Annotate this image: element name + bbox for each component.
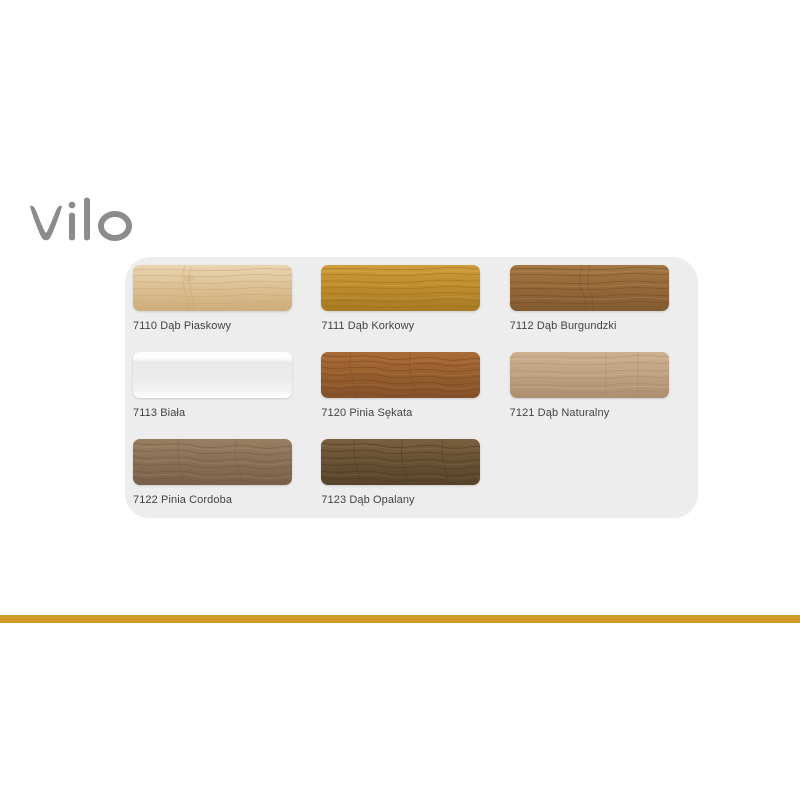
swatch-chip-7122[interactable] <box>133 439 292 485</box>
swatch-label-7121: 7121 Dąb Naturalny <box>510 407 698 420</box>
wood-grain-icon <box>133 439 292 485</box>
swatch-chip-7110[interactable] <box>133 265 292 311</box>
wood-grain-icon <box>133 265 292 311</box>
swatch-item-7110[interactable]: 7110 Dąb Piaskowy <box>133 265 321 352</box>
gold-divider-bar <box>0 615 800 623</box>
vilo-wordmark-icon <box>26 196 166 250</box>
swatch-chip-7111[interactable] <box>321 265 480 311</box>
swatch-panel: 7110 Dąb Piaskowy <box>125 257 698 518</box>
swatch-item-7122[interactable]: 7122 Pinia Cordoba <box>133 439 321 526</box>
swatch-chip-7121[interactable] <box>510 352 669 398</box>
wood-grain-icon <box>321 439 480 485</box>
swatch-item-7111[interactable]: 7111 Dąb Korkowy <box>321 265 509 352</box>
vilo-logo <box>26 196 166 250</box>
swatch-label-7112: 7112 Dąb Burgundzki <box>510 320 698 333</box>
swatch-grid: 7110 Dąb Piaskowy <box>133 265 698 526</box>
swatch-label-7123: 7123 Dąb Opalany <box>321 494 509 507</box>
swatch-label-7120: 7120 Pinia Sękata <box>321 407 509 420</box>
wood-grain-icon <box>321 352 480 398</box>
swatch-label-7110: 7110 Dąb Piaskowy <box>133 320 321 333</box>
wood-grain-icon <box>510 352 669 398</box>
wood-grain-icon <box>510 265 669 311</box>
wood-grain-icon <box>321 265 480 311</box>
plain-white-surface-icon <box>133 352 292 398</box>
swatch-chip-7113[interactable] <box>133 352 292 398</box>
swatch-item-7112[interactable]: 7112 Dąb Burgundzki <box>510 265 698 352</box>
swatch-row: 7110 Dąb Piaskowy <box>133 265 698 352</box>
swatch-chip-7123[interactable] <box>321 439 480 485</box>
swatch-label-7113: 7113 Biała <box>133 407 321 420</box>
swatch-label-7122: 7122 Pinia Cordoba <box>133 494 321 507</box>
swatch-chip-7120[interactable] <box>321 352 480 398</box>
swatch-item-7120[interactable]: 7120 Pinia Sękata <box>321 352 509 439</box>
swatch-item-7121[interactable]: 7121 Dąb Naturalny <box>510 352 698 439</box>
swatch-item-7123[interactable]: 7123 Dąb Opalany <box>321 439 509 526</box>
swatch-row: 7113 Biała <box>133 352 698 439</box>
swatch-chip-7112[interactable] <box>510 265 669 311</box>
swatch-item-7113[interactable]: 7113 Biała <box>133 352 321 439</box>
swatch-label-7111: 7111 Dąb Korkowy <box>321 320 509 333</box>
swatch-row: 7122 Pinia Cordoba <box>133 439 698 526</box>
